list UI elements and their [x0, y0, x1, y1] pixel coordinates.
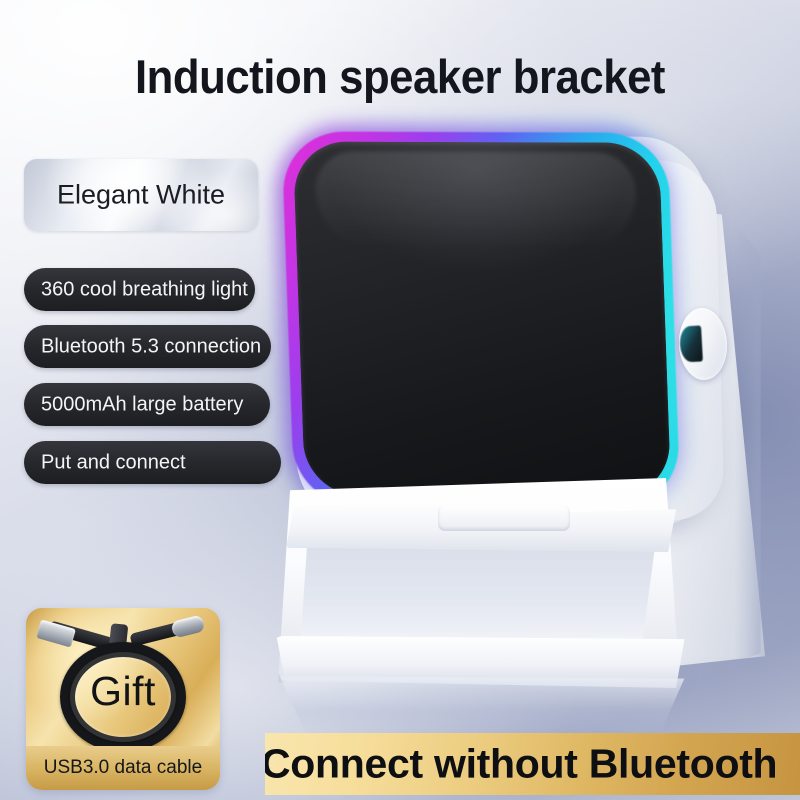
speaker-black-face — [293, 141, 672, 496]
stand-front-panel — [278, 478, 678, 683]
feature-label: Put and connect — [41, 451, 186, 474]
speaker-white-shell — [285, 135, 719, 526]
gift-badge: Gift USB3.0 data cable — [26, 608, 220, 790]
feature-label: 5000mAh large battery — [41, 393, 243, 416]
speaker-knob-icon — [677, 307, 729, 381]
stand-base — [268, 636, 693, 688]
feature-pill-breathing-light: 360 cool breathing light — [24, 268, 255, 311]
variant-chip: Elegant White — [24, 159, 258, 231]
bottom-banner-text: Connect without Bluetooth — [265, 741, 777, 788]
product-poster: Induction speaker bracket Elegant White … — [0, 0, 800, 800]
usb-a-connector-icon — [36, 619, 76, 647]
feature-label: Bluetooth 5.3 connection — [41, 335, 261, 358]
surface-reflection — [262, 676, 702, 738]
stand-front-inner-shade — [300, 545, 655, 653]
speaker-face-sheen — [314, 151, 638, 248]
rgb-breathing-light-ring — [281, 131, 680, 506]
speaker-knob-slot — [679, 325, 703, 362]
variant-label: Elegant White — [24, 180, 258, 211]
feature-pill-put-and-connect: Put and connect — [24, 441, 281, 484]
product-shadow — [250, 650, 770, 710]
stand-phone-ledge — [286, 500, 676, 552]
stand-back-edge — [735, 222, 761, 662]
gift-word: Gift — [26, 668, 220, 715]
rgb-glow-halo — [275, 125, 687, 512]
page-title: Induction speaker bracket — [28, 47, 772, 107]
feature-label: 360 cool breathing light — [41, 278, 248, 301]
stand-ledge-notch — [438, 505, 570, 531]
gift-caption-band: USB3.0 data cable — [26, 746, 220, 790]
bottom-banner: Connect without Bluetooth — [265, 733, 800, 795]
feature-pill-battery: 5000mAh large battery — [24, 383, 270, 426]
stand-back-leg — [585, 205, 765, 675]
usb-c-connector-icon — [170, 614, 205, 638]
gift-caption: USB3.0 data cable — [26, 757, 220, 779]
speaker-side-panel — [595, 156, 725, 523]
feature-pill-bluetooth: Bluetooth 5.3 connection — [24, 325, 271, 368]
